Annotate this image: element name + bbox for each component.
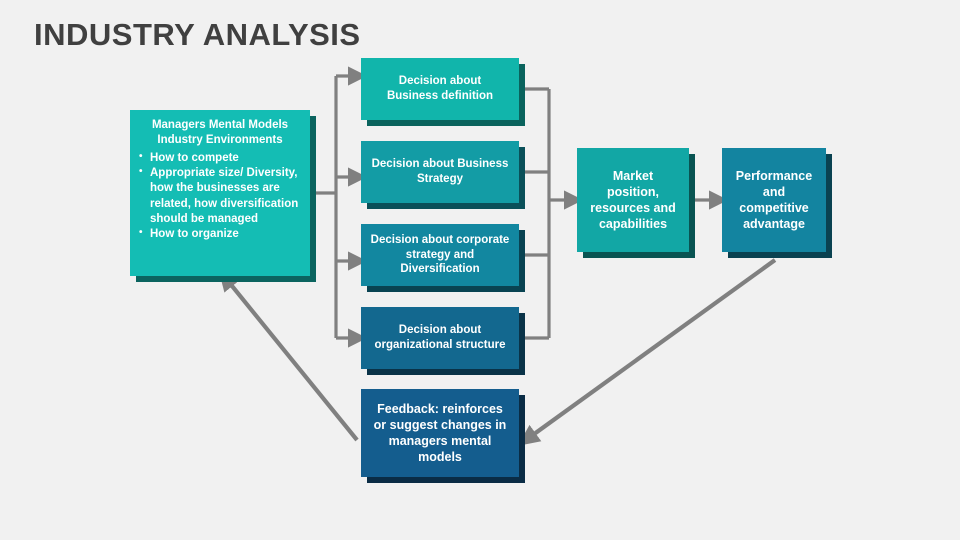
text-line: managers mental bbox=[374, 433, 507, 449]
text-line: Business definition bbox=[387, 89, 493, 104]
text-line: models bbox=[374, 449, 507, 465]
list-item: How to organize bbox=[150, 227, 304, 242]
text-line: and bbox=[736, 184, 812, 200]
node-decision-business-strategy[interactable]: Decision about Business Strategy bbox=[361, 141, 519, 203]
text-line: Strategy bbox=[372, 172, 509, 187]
performance-to-feedback bbox=[530, 260, 775, 437]
merge-right bbox=[525, 89, 571, 338]
text-line: Decision about Business bbox=[372, 157, 509, 172]
node-market-position[interactable]: Market position, resources and capabilit… bbox=[577, 148, 689, 252]
text-line: Performance bbox=[736, 168, 812, 184]
text-line: Decision about bbox=[375, 323, 506, 338]
mental-models-heading: Managers Mental Models Industry Environm… bbox=[130, 110, 310, 150]
text-line: advantage bbox=[736, 216, 812, 232]
mental-models-heading-line-1: Managers Mental Models bbox=[138, 118, 302, 133]
node-decision-organizational-structure[interactable]: Decision about organizational structure bbox=[361, 307, 519, 369]
text-line: competitive bbox=[736, 200, 812, 216]
text-line: Decision about bbox=[387, 74, 493, 89]
text-line: resources and bbox=[590, 200, 675, 216]
text-line: Market bbox=[590, 168, 675, 184]
decision-business-strategy-label: Decision about Business Strategy bbox=[366, 157, 515, 186]
text-line: capabilities bbox=[590, 216, 675, 232]
text-line: or suggest changes in bbox=[374, 417, 507, 433]
feedback-label: Feedback: reinforces or suggest changes … bbox=[368, 401, 513, 465]
text-line: Diversification bbox=[371, 262, 510, 277]
market-position-label: Market position, resources and capabilit… bbox=[584, 168, 681, 232]
diagram-canvas: INDUSTRY ANALYSIS bbox=[0, 0, 960, 540]
page-title: INDUSTRY ANALYSIS bbox=[34, 18, 361, 52]
decision-organizational-structure-label: Decision about organizational structure bbox=[369, 323, 512, 352]
text-line: Decision about corporate bbox=[371, 233, 510, 248]
text-line: organizational structure bbox=[375, 338, 506, 353]
list-item: How to compete bbox=[150, 151, 304, 166]
decision-corporate-strategy-label: Decision about corporate strategy and Di… bbox=[365, 233, 516, 277]
mental-models-bullet-list: How to compete Appropriate size/ Diversi… bbox=[130, 151, 310, 243]
text-line: position, bbox=[590, 184, 675, 200]
list-item: Appropriate size/ Diversity, how the bus… bbox=[150, 166, 304, 227]
text-line: Feedback: reinforces bbox=[374, 401, 507, 417]
decision-business-definition-label: Decision about Business definition bbox=[381, 74, 499, 103]
node-decision-business-definition[interactable]: Decision about Business definition bbox=[361, 58, 519, 120]
fanout-left bbox=[316, 76, 355, 338]
node-mental-models[interactable]: Managers Mental Models Industry Environm… bbox=[130, 110, 310, 276]
text-line: strategy and bbox=[371, 248, 510, 263]
feedback-to-mental-models bbox=[228, 281, 357, 440]
mental-models-heading-line-2: Industry Environments bbox=[138, 133, 302, 148]
node-performance-advantage[interactable]: Performance and competitive advantage bbox=[722, 148, 826, 252]
performance-advantage-label: Performance and competitive advantage bbox=[730, 168, 818, 232]
node-feedback[interactable]: Feedback: reinforces or suggest changes … bbox=[361, 389, 519, 477]
node-decision-corporate-strategy[interactable]: Decision about corporate strategy and Di… bbox=[361, 224, 519, 286]
